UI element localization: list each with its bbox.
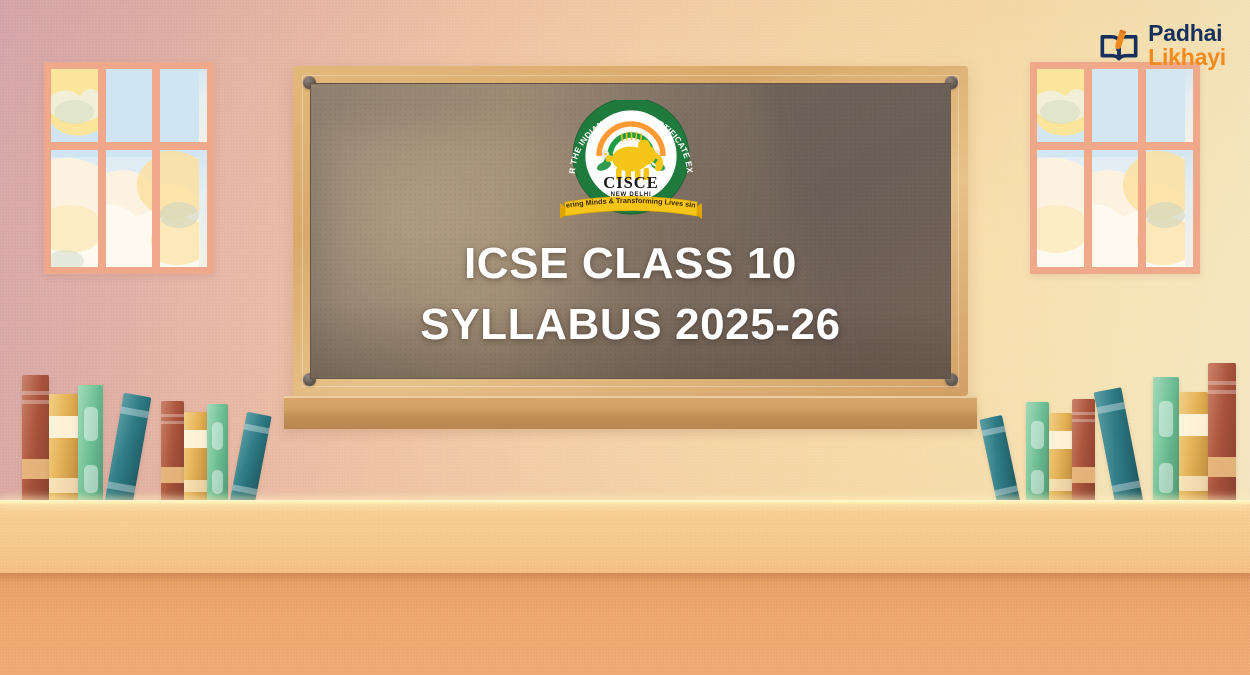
book-band	[49, 478, 78, 493]
book-stripe	[161, 414, 184, 417]
logo-line-1: Padhai	[1148, 22, 1226, 45]
classroom-counter-desk	[0, 500, 1250, 675]
book-label	[1031, 470, 1044, 494]
book-band	[1208, 457, 1236, 477]
window-left	[44, 62, 214, 274]
sky-art	[1146, 150, 1185, 267]
blackboard-surface: COUNCIL FOR THE INDIAN SCHOOL CERTIFICAT…	[310, 83, 951, 379]
window-pane	[160, 150, 207, 267]
sky-art	[1092, 69, 1139, 142]
padhai-likhayi-logo[interactable]: Padhai Likhayi	[1099, 22, 1226, 69]
window-pane	[160, 69, 207, 142]
book	[1094, 387, 1144, 510]
window-pane	[1037, 150, 1084, 267]
books-right	[980, 355, 1250, 505]
book	[22, 375, 49, 505]
book	[207, 404, 228, 505]
book-stripe	[22, 391, 49, 395]
book-label	[1159, 463, 1174, 493]
sky-art	[160, 150, 199, 267]
title-line-2: SYLLABUS 2025-26	[420, 295, 840, 356]
title-line-1: ICSE CLASS 10	[464, 239, 797, 288]
sky-art	[160, 69, 199, 142]
book	[1072, 399, 1095, 505]
book	[49, 394, 78, 505]
book-stripe	[1072, 419, 1095, 422]
book-stripe	[1072, 412, 1095, 415]
window-pane	[1092, 150, 1139, 267]
sky-art	[106, 150, 153, 267]
book	[161, 401, 184, 505]
book-label	[1031, 421, 1044, 449]
window-pane	[51, 150, 98, 267]
book-band	[1072, 467, 1095, 483]
book-band	[184, 480, 207, 492]
book	[1026, 402, 1049, 505]
window-left-panes	[51, 69, 207, 267]
book	[1179, 392, 1208, 505]
window-pane	[1037, 69, 1084, 142]
book-shading	[1049, 413, 1072, 505]
blackboard: COUNCIL FOR THE INDIAN SCHOOL CERTIFICAT…	[293, 66, 977, 396]
cisce-seal: COUNCIL FOR THE INDIAN SCHOOL CERTIFICAT…	[556, 100, 706, 228]
page-title: ICSE CLASS 10 SYLLABUS 2025-26	[420, 234, 840, 355]
window-pane	[1146, 69, 1193, 142]
banner-scene: COUNCIL FOR THE INDIAN SCHOOL CERTIFICAT…	[0, 0, 1250, 675]
book-label	[1159, 401, 1174, 437]
window-right	[1030, 62, 1200, 274]
logo-line-2: Likhayi	[1148, 46, 1226, 69]
sky-art	[1037, 69, 1084, 142]
book-band	[22, 459, 49, 479]
sky-art	[51, 69, 98, 142]
window-pane	[106, 150, 153, 267]
window-pane	[51, 69, 98, 142]
books-left	[0, 355, 270, 505]
book-band	[161, 467, 184, 483]
book	[78, 385, 103, 505]
book-stripe	[1208, 381, 1236, 385]
book-label	[84, 465, 98, 493]
sky-art	[1092, 150, 1139, 267]
window-pane	[1092, 69, 1139, 142]
window-pane	[1146, 150, 1193, 267]
book	[1153, 377, 1179, 505]
book-band	[184, 430, 207, 448]
cisce-seal-svg: COUNCIL FOR THE INDIAN SCHOOL CERTIFICAT…	[556, 100, 706, 228]
book-band	[1179, 476, 1208, 491]
book-band	[1049, 479, 1072, 491]
sky-art	[1146, 69, 1185, 142]
book-stripe	[22, 400, 49, 404]
counter-texture	[0, 500, 1250, 675]
open-book-with-pencil-icon	[1099, 26, 1139, 66]
book-stripe	[161, 421, 184, 424]
sky-art	[1037, 150, 1084, 267]
book-band	[1179, 414, 1208, 436]
blackboard-content: COUNCIL FOR THE INDIAN SCHOOL CERTIFICAT…	[311, 84, 950, 378]
book-stripe	[1208, 390, 1236, 394]
seal-acronym: CISCE	[603, 173, 658, 192]
window-right-panes	[1037, 69, 1193, 267]
book-band	[1049, 431, 1072, 449]
sky-art	[51, 150, 98, 267]
chalk-ledge	[284, 396, 977, 429]
book	[229, 412, 272, 510]
sky-art	[106, 69, 153, 142]
book-label	[212, 422, 224, 450]
book	[1208, 363, 1236, 505]
blackboard-frame: COUNCIL FOR THE INDIAN SCHOOL CERTIFICAT…	[293, 66, 968, 396]
book-band	[49, 416, 78, 438]
book	[184, 412, 207, 505]
window-pane	[106, 69, 153, 142]
logo-wordmark: Padhai Likhayi	[1148, 22, 1226, 69]
book	[1049, 413, 1072, 505]
book-label	[212, 470, 224, 494]
book	[979, 415, 1021, 510]
book-label	[84, 407, 98, 441]
book	[104, 393, 151, 510]
